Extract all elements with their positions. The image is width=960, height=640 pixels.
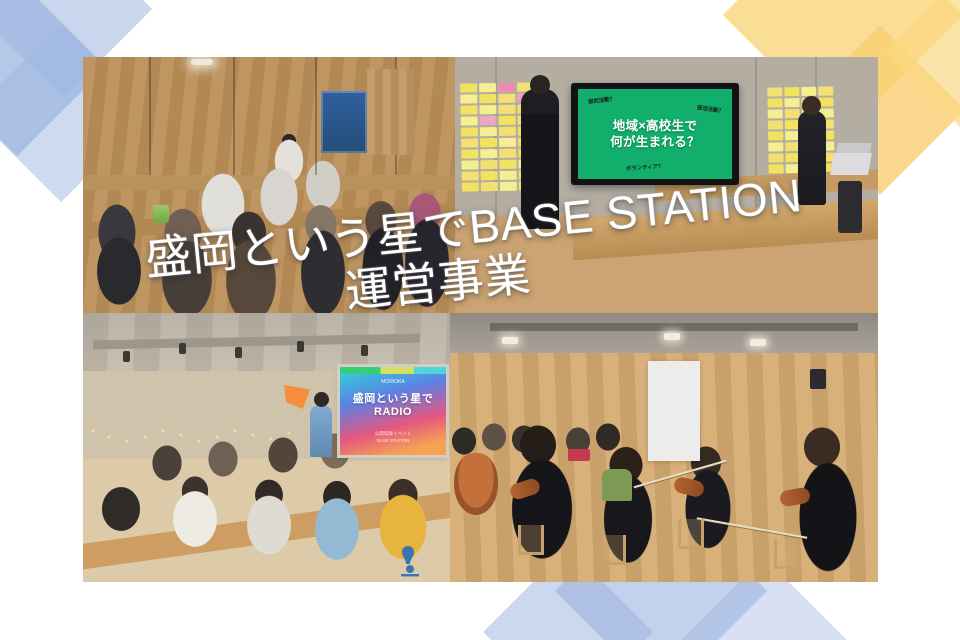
photo-seminar-room: MORIOKA 盛岡という星でRADIO 公開収録イベントBASE STATIO… (83, 313, 450, 582)
photo-chamber-concert (450, 313, 878, 582)
wall-seam (315, 57, 317, 175)
violin-icon (508, 477, 541, 501)
photo-image: MORIOKA 盛岡という星でRADIO 公開収録イベントBASE STATIO… (83, 313, 450, 582)
photo-greenscreen-presentation: 地域×高校生で何が生まれる？ 探究活動？ 部活活動？ ボランティア？ (455, 57, 878, 313)
screen-title-line-1: 盛岡という星で (353, 393, 434, 405)
green-slide-line-1: 地域×高校生で (613, 119, 697, 133)
screen-title: 盛岡という星でRADIO (340, 393, 446, 418)
front-table (573, 198, 878, 261)
laptop-icon (830, 153, 872, 175)
violin-icon (779, 487, 811, 508)
screen-color-band (340, 367, 446, 374)
green-slide-main-text: 地域×高校生で何が生まれる？ (610, 118, 700, 150)
blue-panel (321, 91, 367, 153)
wall-seam (149, 57, 151, 175)
presenter-figure (521, 89, 559, 229)
photo-image (450, 313, 878, 582)
ceiling-light-icon (502, 337, 518, 344)
photo-image: 地域×高校生で何が生まれる？ 探究活動？ 部活活動？ ボランティア？ (455, 57, 878, 313)
photo-image (83, 57, 455, 313)
chair-icon (774, 539, 800, 569)
cello-icon (454, 453, 498, 515)
speaker-icon (810, 369, 826, 389)
screen-footer-line-2: BASE STATION (377, 438, 410, 443)
seated-player (602, 469, 632, 501)
spotlight-icon (361, 345, 368, 356)
screen-footer: 公開収録イベントBASE STATION (340, 431, 446, 445)
spotlight-icon (123, 351, 130, 362)
violin-icon (673, 476, 706, 499)
presentation-monitor: 地域×高校生で何が生まれる？ 探究活動？ 部活活動？ ボランティア？ (571, 83, 739, 185)
air-duct (490, 323, 858, 331)
bow-icon (697, 517, 808, 538)
screen-title-line-2: RADIO (374, 406, 412, 418)
photo-collage: 地域×高校生で何が生まれる？ 探究活動？ 部活活動？ ボランティア？ (83, 57, 878, 582)
plywood-panel (367, 69, 415, 155)
green-slide: 地域×高校生で何が生まれる？ 探究活動？ 部活活動？ ボランティア？ (578, 89, 732, 179)
slide-canvas: 地域×高校生で何が生まれる？ 探究活動？ 部活活動？ ボランティア？ (0, 0, 960, 640)
projection-screen: MORIOKA 盛岡という星でRADIO 公開収録イベントBASE STATIO… (340, 367, 446, 455)
chair-icon (600, 535, 626, 565)
presenter-figure (798, 111, 826, 205)
green-slide-line-2: 何が生まれる？ (610, 135, 700, 149)
red-bag (568, 449, 590, 461)
equipment-box (838, 181, 862, 233)
orange-banner (284, 385, 310, 409)
green-slide-note-top-right: 部活活動？ (697, 103, 725, 115)
presenter-figure (310, 405, 332, 457)
drink-bottles (153, 205, 169, 223)
photo-workshop-setup (83, 57, 455, 313)
ceiling-light-icon (664, 333, 680, 340)
green-slide-note-top-left: 探究活動？ (588, 94, 616, 105)
ceiling-light-icon (750, 339, 766, 346)
wall-seam (233, 57, 235, 175)
green-slide-note-bottom: ボランティア？ (626, 162, 664, 173)
spotlight-icon (179, 343, 186, 354)
chair-icon (678, 519, 704, 549)
ceiling-light-icon (191, 59, 213, 65)
tshirt-logo-icon (395, 542, 425, 578)
spotlight-icon (297, 341, 304, 352)
screen-footer-line-1: 公開収録イベント (375, 431, 412, 436)
spotlight-icon (235, 347, 242, 358)
photo-row-bottom: MORIOKA 盛岡という星でRADIO 公開収録イベントBASE STATIO… (83, 313, 878, 582)
fairy-lights (87, 423, 317, 449)
chair-icon (518, 525, 544, 555)
screen-subtitle: MORIOKA (340, 379, 446, 385)
whiteboard (648, 361, 700, 461)
